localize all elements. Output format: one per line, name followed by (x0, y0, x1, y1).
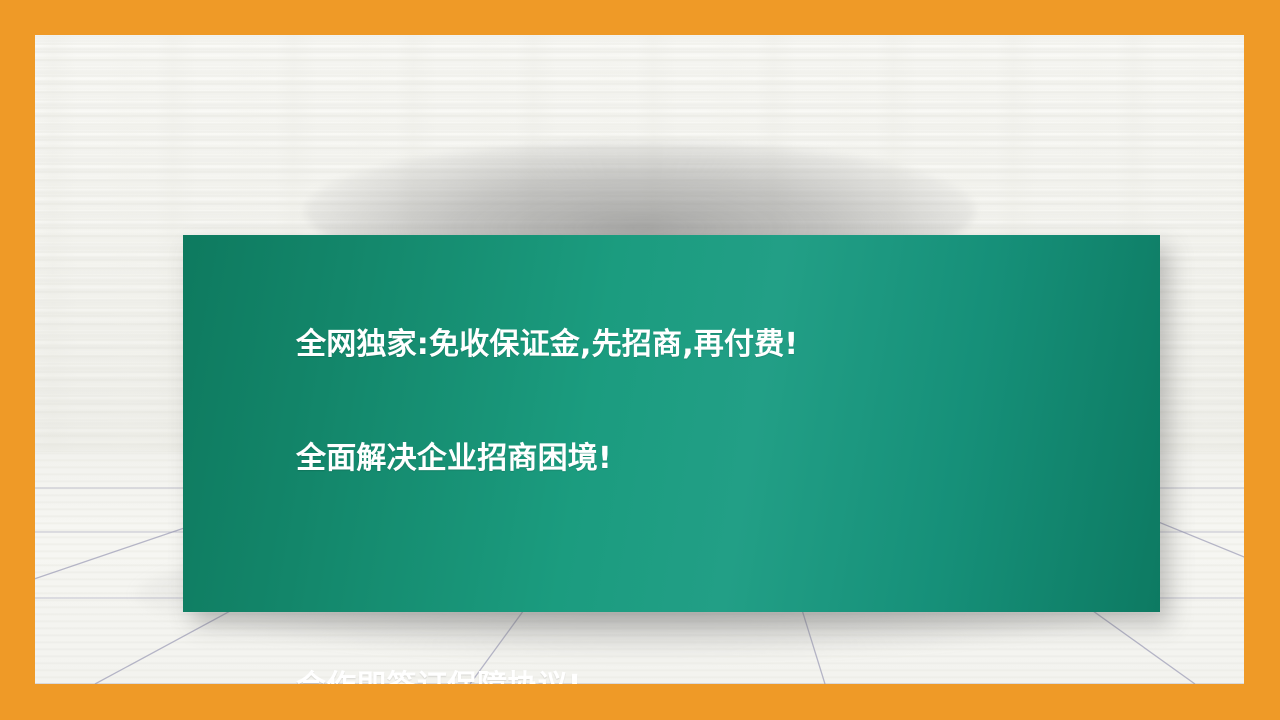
promo-panel: 全网独家:免收保证金,先招商,再付费! 全面解决企业招商困境! 合作即签订保障协… (183, 235, 1160, 612)
promo-line-1: 全网独家:免收保证金,先招商,再付费! (296, 326, 1148, 364)
room-scene: 全网独家:免收保证金,先招商,再付费! 全面解决企业招商困境! 合作即签订保障协… (35, 35, 1244, 684)
promo-line-2: 全面解决企业招商困境! (296, 440, 1148, 478)
promo-spacer-1 (296, 554, 1148, 592)
promo-text-block: 全网独家:免收保证金,先招商,再付费! 全面解决企业招商困境! 合作即签订保障协… (296, 250, 1148, 684)
slide-canvas: 全网独家:免收保证金,先招商,再付费! 全面解决企业招商困境! 合作即签订保障协… (0, 0, 1280, 720)
promo-line-4: 合作即签订保障协议! (296, 668, 1148, 684)
